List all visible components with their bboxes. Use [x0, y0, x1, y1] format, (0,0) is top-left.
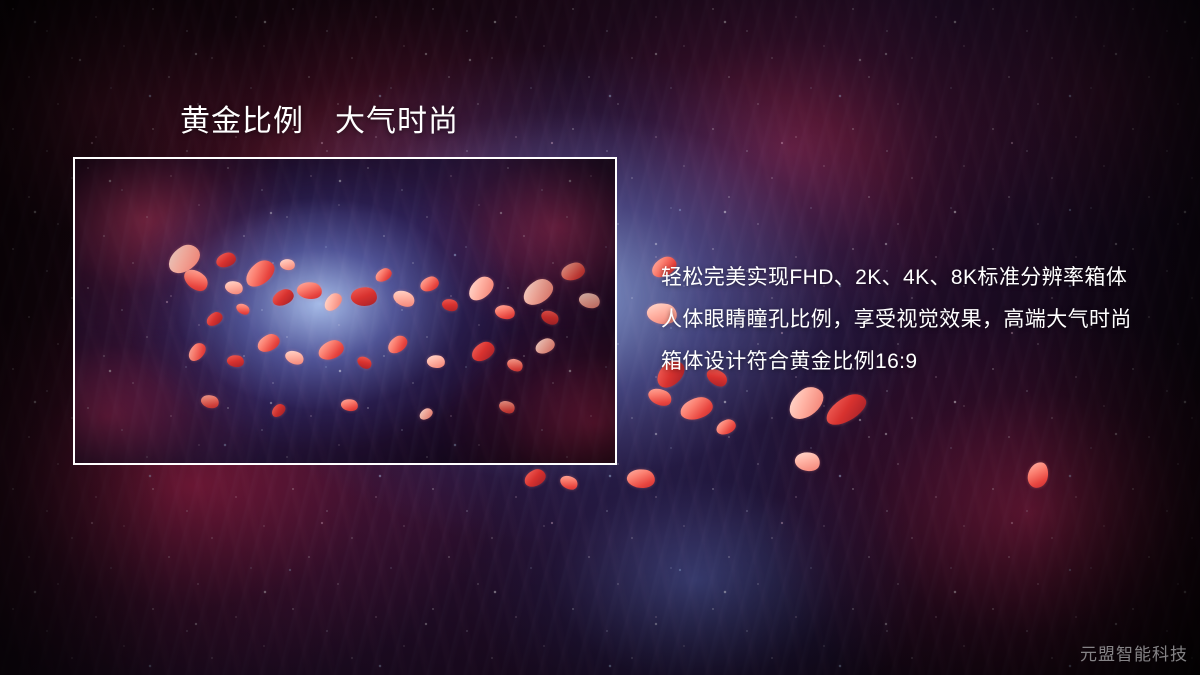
page-title: 黄金比例 大气时尚	[180, 103, 459, 141]
body-line: 人体眼睛瞳孔比例，享受视觉效果，高端大气时尚	[661, 299, 1181, 341]
watermark: 元盟智能科技	[1080, 640, 1188, 665]
body-copy: 轻松完美实现FHD、2K、4K、8K标准分辨率箱体 人体眼睛瞳孔比例，享受视觉效…	[661, 257, 1181, 383]
framed-image-vignette	[75, 159, 615, 463]
body-line: 箱体设计符合黄金比例16:9	[661, 341, 1181, 383]
presentation-slide: 黄金比例 大气时尚 轻松完美实现FHD、2K、4K、8K标准分辨率箱体 人体眼睛…	[0, 0, 1200, 675]
framed-image-inner	[75, 159, 615, 463]
framed-image	[73, 157, 617, 465]
body-line: 轻松完美实现FHD、2K、4K、8K标准分辨率箱体	[661, 257, 1181, 299]
